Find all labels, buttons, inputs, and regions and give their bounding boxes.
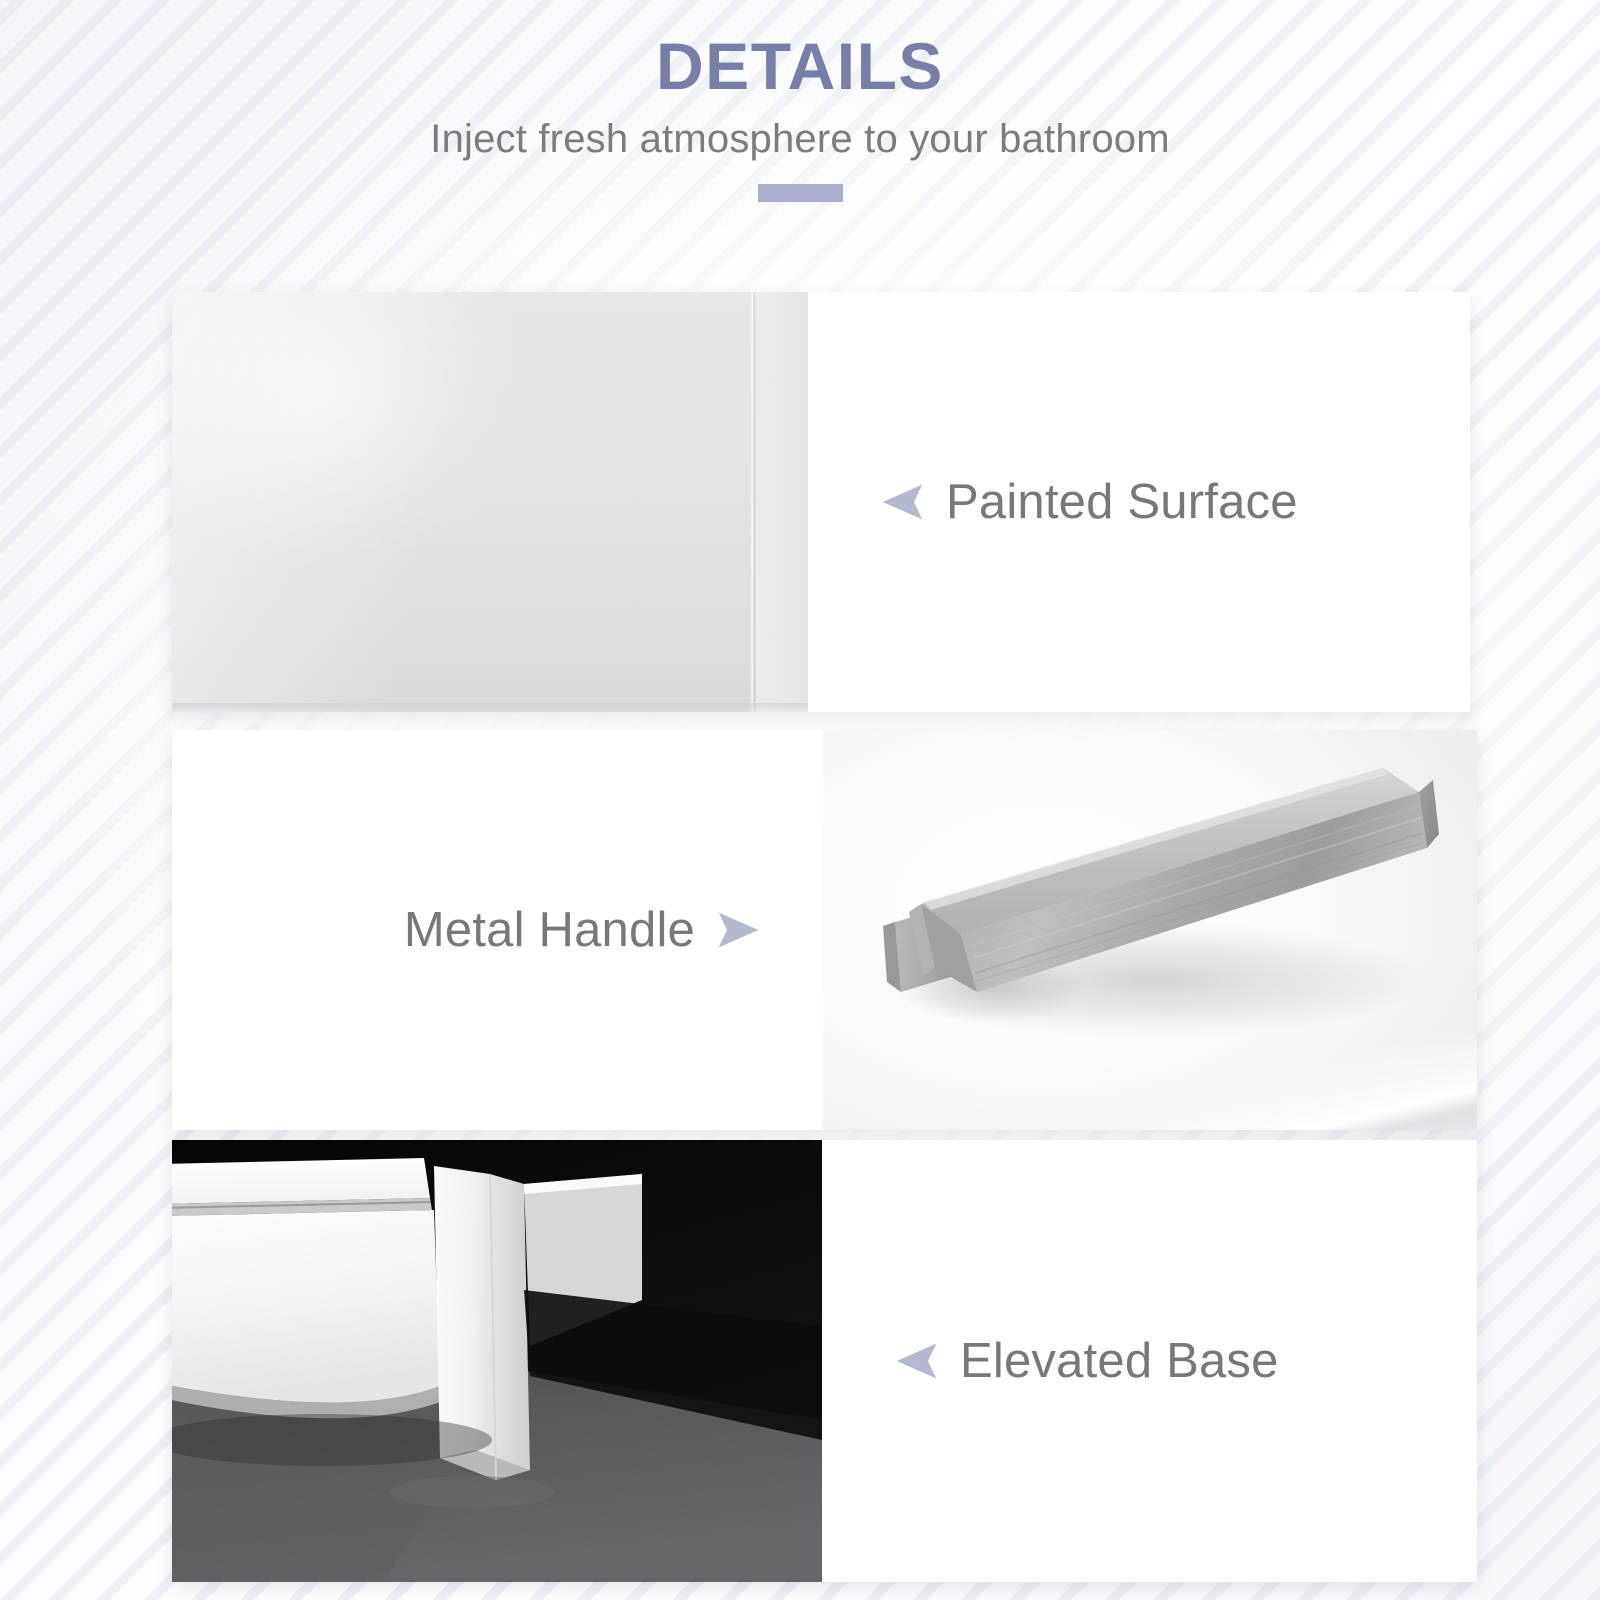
header: DETAILS Inject fresh atmosphere to your … xyxy=(0,0,1600,270)
caption-label: Metal Handle xyxy=(404,902,695,958)
photo-elevated-base xyxy=(172,1140,822,1582)
handle-svg xyxy=(823,730,1477,1130)
panel-highlight xyxy=(172,292,532,572)
photo-painted-surface xyxy=(172,292,808,712)
caption-painted-surface: Painted Surface xyxy=(808,292,1470,712)
arrow-right-icon xyxy=(715,907,761,953)
infographic-page: DETAILS Inject fresh atmosphere to your … xyxy=(0,0,1600,1600)
page-subtitle: Inject fresh atmosphere to your bathroom xyxy=(0,117,1600,162)
handle-illustration xyxy=(823,730,1477,1130)
detail-row-painted-surface: Painted Surface xyxy=(172,292,1470,712)
caption-elevated-base: Elevated Base xyxy=(822,1140,1477,1582)
panel-bottom-edge xyxy=(172,703,808,712)
arrow-left-icon xyxy=(894,1338,940,1384)
caption-label: Elevated Base xyxy=(960,1333,1279,1389)
detail-row-metal-handle: Metal Handle xyxy=(172,730,1477,1130)
arrow-left-icon xyxy=(880,479,926,525)
panel-right-face xyxy=(756,292,808,712)
photo-metal-handle xyxy=(823,730,1477,1130)
page-title: DETAILS xyxy=(0,30,1600,103)
base-illustration xyxy=(172,1140,822,1582)
caption-label: Painted Surface xyxy=(946,474,1298,530)
detail-row-elevated-base: Elevated Base xyxy=(172,1140,1477,1582)
accent-divider xyxy=(758,184,843,202)
caption-metal-handle: Metal Handle xyxy=(172,730,823,1130)
